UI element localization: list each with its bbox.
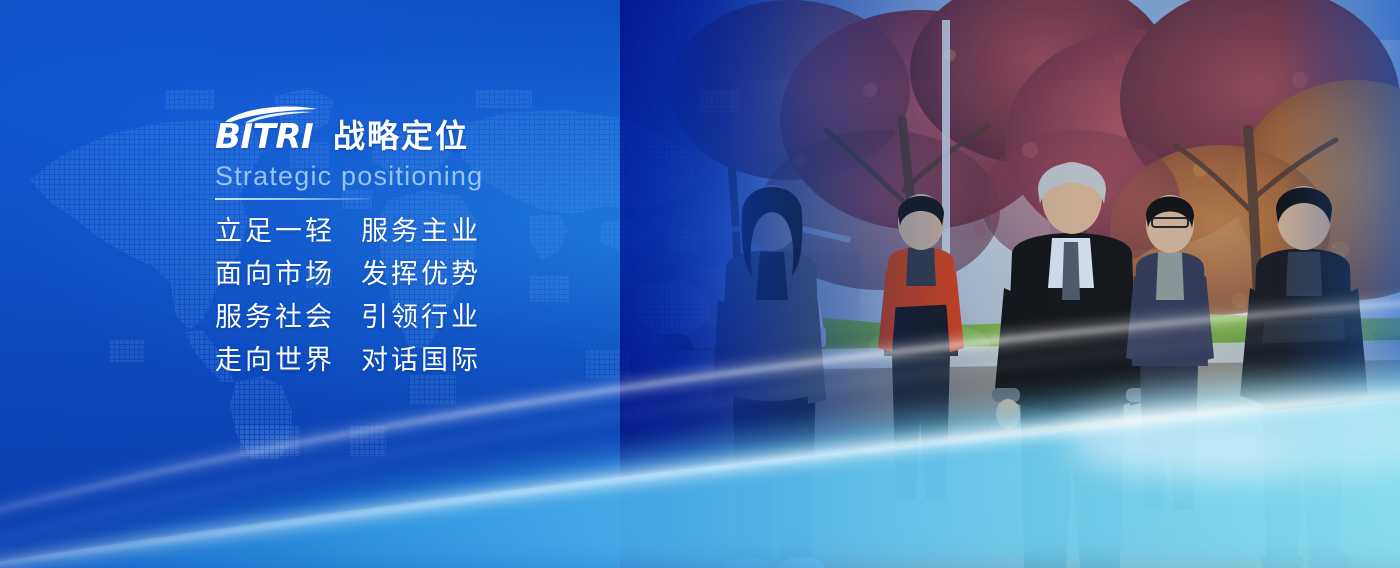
strategic-positioning-banner: BITRI 战略定位 Strategic positioning 立足一轻 服务… [0, 0, 1400, 568]
slogan-left: 立足一轻 [215, 218, 335, 245]
slogan-row: 面向市场 发挥优势 [215, 261, 735, 288]
page-subtitle: Strategic positioning [215, 162, 735, 192]
campus-walk-photo [620, 0, 1400, 568]
page-title: 战略定位 [333, 120, 469, 154]
slogan-right: 对话国际 [361, 347, 481, 374]
slogan-list: 立足一轻 服务主业 面向市场 发挥优势 服务社会 引领行业 走向世界 对话国际 [215, 218, 735, 374]
slogan-right: 发挥优势 [361, 261, 481, 288]
slogan-right: 服务主业 [361, 218, 481, 245]
slogan-left: 走向世界 [215, 347, 335, 374]
slogan-row: 服务社会 引领行业 [215, 304, 735, 331]
slogan-left: 服务社会 [215, 304, 335, 331]
slogan-row: 立足一轻 服务主业 [215, 218, 735, 245]
logo-title-row: BITRI 战略定位 [215, 104, 735, 154]
bitri-wordmark: BITRI [215, 120, 313, 154]
slogan-left: 面向市场 [215, 261, 335, 288]
slogan-right: 引领行业 [361, 304, 481, 331]
bitri-logo[interactable]: BITRI [215, 106, 319, 154]
slogan-row: 走向世界 对话国际 [215, 347, 735, 374]
banner-content: BITRI 战略定位 Strategic positioning 立足一轻 服务… [215, 104, 735, 374]
title-divider [215, 198, 370, 200]
